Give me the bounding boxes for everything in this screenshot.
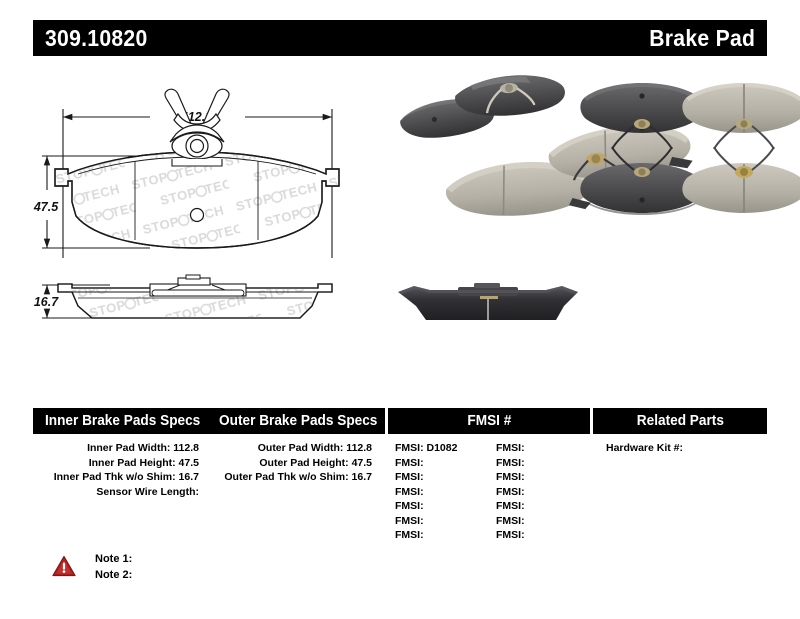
fmsi-entry: FMSI: D1082 [388,441,489,456]
brake-pad-photo-pairs-set [580,83,800,215]
product-type: Brake Pad [649,25,755,52]
warning-triangle-icon [52,555,76,577]
fmsi-entry: FMSI: [388,499,489,514]
header-outer-brake-pads-specs: Outer Brake Pads Specs [212,408,385,434]
technical-drawing: STOP TECH STOP TECH [0,62,400,362]
fmsi-entry: FMSI: [489,456,590,471]
drawing-svg: STOP TECH STOP TECH [0,62,400,362]
fmsi-entry: FMSI: [489,470,590,485]
spec-outer-pad-width: Outer Pad Width: 112.8 [212,441,385,456]
spec-outer-pad-thickness: Outer Pad Thk w/o Shim: 16.7 [212,470,385,485]
specs-table-header-row: Inner Brake Pads Specs Outer Brake Pads … [33,408,767,434]
spec-sensor-wire-length: Sensor Wire Length: [33,485,212,500]
fmsi-entry: FMSI: [489,528,590,543]
brake-pad-photo-edge-view [398,283,578,320]
brake-pad-side-view [55,275,345,322]
header-bar: 309.10820 Brake Pad [33,20,767,56]
fmsi-entry: FMSI: [489,441,590,456]
specs-table-body: Inner Pad Width: 112.8 Inner Pad Height:… [33,434,767,543]
related-hardware-kit: Hardware Kit #: [593,441,767,456]
fmsi-entry: FMSI: [489,485,590,500]
fmsi-entry: FMSI: [388,470,489,485]
note-1: Note 1: [95,552,132,568]
column-inner-specs: Inner Pad Width: 112.8 Inner Pad Height:… [33,441,212,543]
header-inner-brake-pads-specs: Inner Brake Pads Specs [33,408,212,434]
column-outer-specs: Outer Pad Width: 112.8 Outer Pad Height:… [212,441,385,543]
header-fmsi: FMSI # [388,408,590,434]
spec-inner-pad-width: Inner Pad Width: 112.8 [33,441,212,456]
header-related-parts: Related Parts [593,408,767,434]
note-2: Note 2: [95,568,132,584]
spec-inner-pad-height: Inner Pad Height: 47.5 [33,456,212,471]
photos-svg [390,62,800,362]
fmsi-subcolumn-2: FMSI: FMSI: FMSI: FMSI: FMSI: FMSI: FMSI… [489,441,590,543]
part-number: 309.10820 [45,25,148,52]
retaining-spring-clip [165,89,229,159]
product-photos [390,62,800,362]
fmsi-entry: FMSI: [388,514,489,529]
fmsi-entry: FMSI: [388,528,489,543]
specs-table: Inner Brake Pads Specs Outer Brake Pads … [33,408,767,543]
fmsi-entry: FMSI: [388,485,489,500]
fmsi-entry: FMSI: [489,514,590,529]
column-fmsi: FMSI: D1082 FMSI: FMSI: FMSI: FMSI: FMSI… [388,441,590,543]
spec-inner-pad-thickness: Inner Pad Thk w/o Shim: 16.7 [33,470,212,485]
dimension-height-label: 47.5 [33,200,59,214]
fmsi-entry: FMSI: [388,456,489,471]
spec-sheet-page: 309.10820 Brake Pad STOP TECH STOP TECH [0,0,800,619]
notes-section: Note 1: Note 2: [52,552,132,583]
spec-outer-pad-height: Outer Pad Height: 47.5 [212,456,385,471]
column-related-parts: Hardware Kit #: [593,441,767,543]
note-lines: Note 1: Note 2: [95,552,132,583]
fmsi-entry: FMSI: [489,499,590,514]
dimension-thickness-label: 16.7 [34,295,59,309]
fmsi-subcolumn-1: FMSI: D1082 FMSI: FMSI: FMSI: FMSI: FMSI… [388,441,489,543]
clip-base-plate [172,159,222,166]
